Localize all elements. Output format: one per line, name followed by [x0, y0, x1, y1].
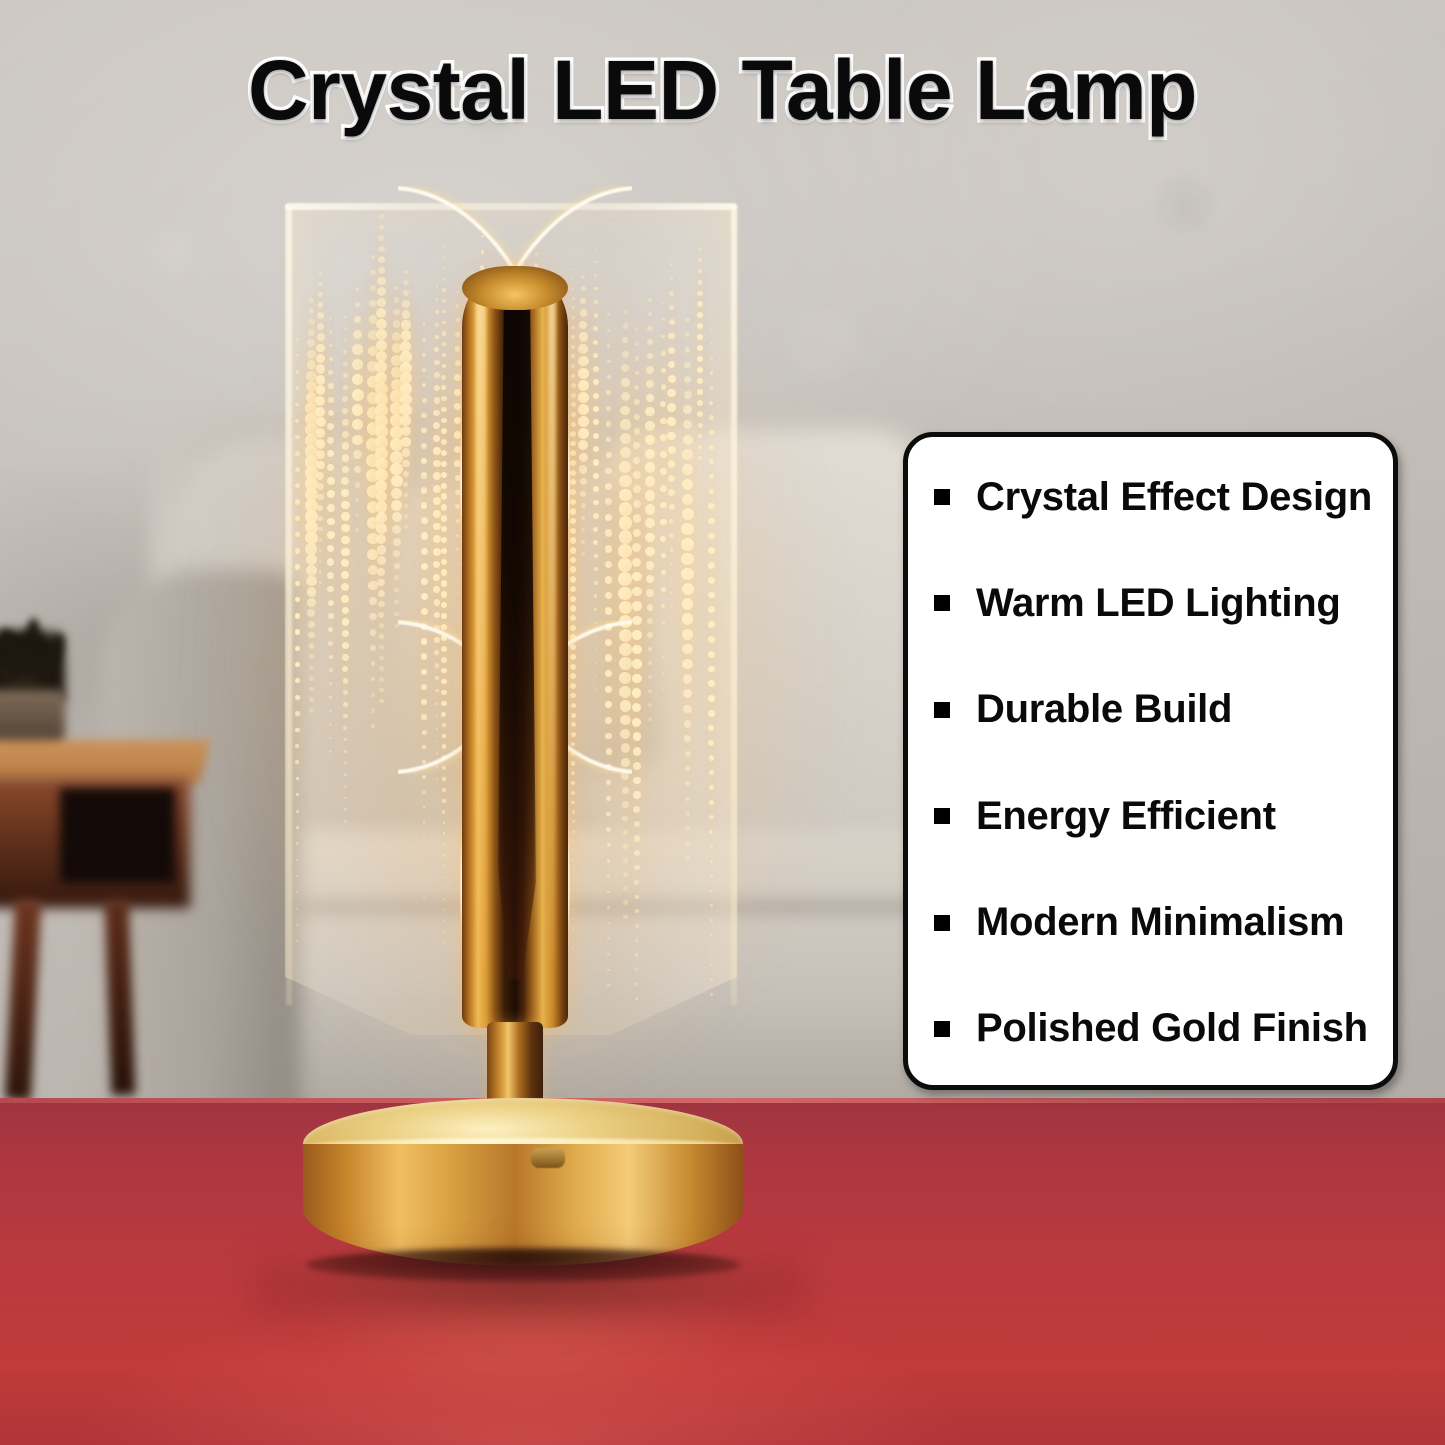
list-item: Crystal Effect Design — [926, 461, 1375, 533]
crystal-bead — [329, 682, 332, 685]
crystal-bead — [355, 302, 361, 308]
crystal-bead — [355, 528, 359, 532]
crystal-bead — [648, 689, 652, 693]
crystal-bead — [681, 568, 693, 580]
crystal-bead — [344, 738, 348, 742]
crystal-bead — [699, 501, 701, 503]
crystal-bead — [308, 329, 315, 336]
crystal-bead — [352, 344, 362, 354]
crystal-bead — [352, 389, 364, 401]
crystal-bead — [329, 710, 332, 713]
crystal-bead — [662, 689, 664, 691]
crystal-bead — [329, 723, 332, 726]
crystal-bead — [697, 312, 703, 318]
crystal-bead — [670, 577, 673, 580]
crystal-bead — [632, 630, 642, 640]
crystal-bead — [343, 678, 349, 684]
list-item: Modern Minimalism — [926, 887, 1375, 959]
crystal-bead — [708, 592, 715, 599]
crystal-bead — [371, 677, 376, 682]
crystal-bead — [684, 720, 692, 728]
crystal-bead — [632, 616, 642, 626]
crystal-bead — [697, 389, 703, 395]
crystal-bead — [379, 645, 384, 650]
crystal-bead — [316, 385, 326, 395]
crystal-bead — [633, 457, 640, 464]
crystal-bead — [309, 654, 314, 659]
crystal-bead — [647, 632, 652, 637]
crystal-bead — [295, 581, 301, 587]
crystal-bead — [307, 587, 317, 597]
crystal-bead — [352, 374, 364, 386]
crystal-bead — [683, 705, 691, 713]
list-item: Durable Build — [926, 674, 1375, 746]
crystal-bead — [646, 366, 654, 374]
crystal-bead — [670, 548, 674, 552]
crystal-bead — [708, 725, 714, 731]
crystal-bead — [329, 750, 332, 753]
crystal-bead — [709, 830, 713, 834]
crystal-bead — [634, 880, 639, 885]
crystal-bead — [668, 375, 676, 383]
crystal-bead — [376, 501, 387, 512]
crystal-bead — [317, 483, 325, 491]
crystal-bead — [344, 773, 347, 776]
crystal-bead — [699, 468, 702, 471]
crystal-bead — [710, 875, 713, 878]
crystal-bead — [376, 512, 387, 523]
crystal-bead — [376, 308, 386, 318]
crystal-bead — [306, 576, 316, 586]
crystal-bead — [295, 483, 300, 488]
crystal-bead — [377, 287, 386, 296]
crystal-bead — [327, 518, 335, 526]
crystal-bead — [708, 680, 715, 687]
crystal-bead — [708, 533, 715, 540]
crystal-bead — [309, 665, 314, 670]
crystal-bead — [309, 708, 314, 713]
feature-list-panel: Crystal Effect Design Warm LED Lighting … — [903, 432, 1398, 1090]
crystal-bead — [710, 860, 714, 864]
crystal-bead — [295, 744, 299, 748]
crystal-bead — [708, 651, 715, 658]
crystal-bead — [662, 318, 665, 321]
crystal-bead — [685, 811, 689, 815]
crystal-bead — [633, 806, 640, 813]
crystal-bead — [355, 498, 359, 502]
crystal-bead — [710, 890, 713, 893]
crystal-bead — [296, 891, 298, 893]
crystal-bead — [316, 344, 325, 353]
crystal-bead — [648, 717, 652, 721]
crystal-bead — [698, 456, 701, 459]
crystal-bead — [342, 408, 348, 414]
crystal-bead — [710, 845, 714, 849]
feature-label: Polished Gold Finish — [976, 1006, 1368, 1051]
crystal-bead — [648, 298, 652, 302]
crystal-bead — [344, 808, 347, 811]
crystal-bead — [635, 982, 638, 985]
crystal-bead — [342, 431, 349, 438]
crystal-bead — [685, 347, 691, 353]
crystal-bead — [329, 655, 333, 659]
crystal-bead — [660, 401, 666, 407]
crystal-bead — [341, 477, 349, 485]
crystal-bead — [377, 579, 385, 587]
crystal-bead — [632, 558, 641, 567]
crystal-bead — [296, 338, 299, 341]
crystal-bead — [377, 298, 387, 308]
crystal-bead — [342, 442, 349, 449]
crystal-bead — [660, 502, 667, 509]
crystal-bead — [328, 641, 333, 646]
crystal-bead — [661, 384, 667, 390]
crystal-bead — [661, 604, 665, 608]
crystal-bead — [668, 475, 675, 482]
crystal-bead — [296, 777, 300, 781]
crystal-bead — [607, 953, 610, 956]
crystal-bead — [661, 587, 666, 592]
crystal-bead — [295, 613, 301, 619]
crystal-bead — [376, 319, 387, 330]
crystal-bead — [327, 504, 335, 512]
crystal-bead — [316, 461, 325, 470]
crystal-bead — [682, 629, 693, 640]
crystal-bead — [685, 332, 690, 337]
crystal-bead — [296, 793, 299, 796]
crystal-bead — [379, 634, 384, 639]
crystal-bead — [681, 553, 693, 565]
crystal-bead — [355, 287, 359, 291]
crystal-bead — [352, 404, 364, 416]
crystal-bead — [646, 589, 654, 597]
crystal-bead — [329, 737, 332, 740]
crystal-bead — [648, 675, 652, 679]
crystal-bead — [315, 407, 325, 417]
crystal-bead — [344, 797, 347, 800]
crystal-bead — [318, 302, 324, 308]
crystal-bead — [632, 572, 641, 581]
crystal-bead — [661, 570, 666, 575]
crystal-bead — [307, 350, 316, 359]
crystal-bead — [354, 466, 361, 473]
crystal-bead — [344, 820, 347, 823]
crystal-bead — [682, 449, 693, 460]
crystal-bead — [344, 761, 347, 764]
crystal-bead — [296, 940, 298, 942]
crystal-bead — [685, 318, 689, 322]
crystal-bead — [343, 714, 348, 719]
crystal-bead — [341, 536, 349, 544]
crystal-bead — [376, 329, 387, 340]
crystal-bead — [376, 534, 386, 544]
crystal-bead — [317, 333, 325, 341]
crystal-bead — [343, 690, 348, 695]
crystal-bead — [296, 306, 298, 308]
crystal-bead — [309, 697, 314, 702]
crystal-bead — [328, 627, 333, 632]
crystal-bead — [379, 623, 384, 628]
crystal-bead — [327, 531, 335, 539]
crystal-bead — [328, 397, 334, 403]
crystal-bead — [378, 601, 385, 608]
crystal-bead — [305, 543, 317, 555]
crystal-bead — [708, 666, 715, 673]
crystal-bead — [685, 841, 689, 845]
crystal-bead — [341, 571, 349, 579]
crystal-bead — [633, 791, 641, 799]
crystal-bead — [375, 480, 387, 492]
crystal-bead — [669, 533, 674, 538]
crystal-bead — [697, 334, 704, 341]
crystal-bead — [708, 740, 714, 746]
list-item: Energy Efficient — [926, 780, 1375, 852]
crystal-bead — [295, 646, 300, 651]
crystal-bead — [645, 504, 655, 514]
crystal-bead — [296, 908, 298, 910]
crystal-bead — [697, 356, 704, 363]
crystal-bead — [635, 356, 639, 360]
crystal-bead — [635, 342, 639, 346]
square-bullet-icon — [934, 702, 950, 718]
crystal-bead — [378, 590, 385, 597]
crystal-bead — [341, 489, 349, 497]
crystal-bead — [710, 993, 712, 995]
crystal-bead — [661, 351, 666, 356]
crystal-bead — [681, 523, 693, 535]
feature-label: Warm LED Lighting — [976, 581, 1341, 626]
crystal-bead — [633, 777, 641, 785]
crystal-bead — [353, 330, 362, 339]
crystal-bead — [371, 708, 376, 713]
crystal-bead — [635, 997, 638, 1000]
crystal-bead — [329, 317, 332, 320]
crystal-bead — [635, 895, 640, 900]
crystal-bead — [317, 505, 323, 511]
crystal-bead — [682, 583, 694, 595]
crystal-bead — [328, 613, 334, 619]
crystal-bead — [327, 490, 335, 498]
crystal-bead — [667, 403, 676, 412]
crystal-bead — [633, 500, 641, 508]
crystal-bead — [329, 344, 333, 348]
product-marketing-image: Crystal LED Table Lamp Crystal Effect De… — [0, 0, 1445, 1445]
crystal-bead — [710, 328, 712, 330]
crystal-bead — [709, 770, 715, 776]
crystal-bead — [308, 621, 315, 628]
crystal-bead — [296, 842, 298, 844]
crystal-bead — [341, 595, 349, 603]
crystal-bead — [710, 357, 713, 360]
square-bullet-icon — [934, 1021, 950, 1037]
crystal-bead — [329, 668, 333, 672]
crystal-bead — [295, 760, 299, 764]
crystal-bead — [685, 856, 689, 860]
crystal-bead — [698, 269, 702, 273]
crystal-bead — [371, 661, 376, 666]
crystal-bead — [632, 674, 641, 683]
crystal-bead — [683, 674, 693, 684]
crystal-bead — [318, 292, 323, 297]
crystal-bead — [697, 378, 704, 385]
feature-label: Energy Efficient — [976, 794, 1276, 839]
crystal-bead — [635, 909, 639, 913]
crystal-bead — [295, 597, 301, 603]
crystal-bead — [669, 305, 674, 310]
crystal-bead — [683, 689, 692, 698]
feature-label: Durable Build — [976, 687, 1232, 732]
crystal-bead — [369, 613, 377, 621]
crystal-bead — [708, 621, 715, 628]
crystal-bead — [295, 711, 300, 716]
list-item: Polished Gold Finish — [926, 993, 1375, 1065]
crystal-bead — [316, 450, 325, 459]
crystal-bead — [319, 570, 323, 574]
crystal-bead — [632, 703, 641, 712]
crystal-bead — [645, 407, 654, 416]
crystal-bead — [709, 459, 714, 464]
crystal-bead — [685, 751, 691, 757]
crystal-bead — [647, 618, 653, 624]
crystal-bead — [319, 538, 323, 542]
crystal-bead — [296, 354, 299, 357]
crystal-bead — [645, 435, 655, 445]
crystal-bead — [352, 435, 362, 445]
crystal-bead — [662, 672, 664, 674]
crystal-bead — [379, 214, 384, 219]
crystal-bead — [669, 319, 675, 325]
column-highlight-right — [548, 282, 556, 962]
crystal-bead — [635, 328, 638, 331]
crystal-bead — [316, 375, 326, 385]
crystal-bead — [368, 581, 378, 591]
crystal-bead — [646, 394, 655, 403]
crystal-bead — [634, 835, 640, 841]
crystal-bead — [318, 516, 323, 521]
square-bullet-icon — [934, 595, 950, 611]
crystal-bead — [635, 968, 638, 971]
crystal-bead — [662, 302, 664, 304]
crystal-bead — [668, 460, 676, 468]
crystal-bead — [341, 583, 349, 591]
crystal-bead — [317, 494, 324, 501]
crystal-bead — [682, 659, 692, 669]
crystal-bead — [308, 319, 315, 326]
lamp-contact-shadow — [250, 1252, 810, 1322]
crystal-bead — [645, 518, 655, 528]
crystal-bead — [685, 781, 690, 786]
crystal-bead — [698, 423, 703, 428]
crystal-bead — [648, 647, 653, 652]
crystal-bead — [295, 516, 301, 522]
crystal-bead — [709, 800, 714, 805]
crystal-bead — [683, 405, 692, 414]
crystal-bead — [632, 543, 641, 552]
crystal-bead — [344, 785, 347, 788]
crystal-bead — [709, 815, 714, 820]
lamp-switch[interactable] — [531, 1148, 565, 1168]
crystal-bead — [329, 330, 332, 333]
crystal-bead — [316, 354, 325, 363]
crystal-bead — [342, 466, 350, 474]
crystal-bead — [344, 339, 348, 343]
crystal-bead — [634, 850, 640, 856]
crystal-bead — [342, 654, 349, 661]
crystal-bead — [660, 485, 667, 492]
crystal-bead — [317, 323, 324, 330]
crystal-bead — [329, 357, 334, 362]
crystal-bead — [710, 904, 713, 907]
crystal-bead — [697, 301, 703, 307]
crystal-bead — [342, 396, 348, 402]
crystal-bead — [295, 435, 300, 440]
crystal-bead — [699, 512, 701, 514]
crystal-bead — [634, 414, 640, 420]
crystal-bead — [660, 451, 667, 458]
crystal-bead — [319, 581, 323, 585]
crystal-bead — [684, 391, 692, 399]
crystal-bead — [662, 621, 665, 624]
crystal-bead — [708, 577, 715, 584]
column-highlight-left — [476, 280, 486, 970]
crystal-bead — [710, 964, 712, 966]
crystal-bead — [670, 277, 674, 281]
crystal-bead — [341, 501, 349, 509]
crystal-bead — [355, 482, 361, 488]
crystal-bead — [684, 735, 691, 742]
crystal-bead — [635, 924, 639, 928]
crystal-bead — [343, 362, 348, 367]
crystal-bead — [307, 609, 315, 617]
crystal-bead — [376, 523, 387, 534]
crystal-bead — [317, 312, 324, 319]
crystal-bead — [295, 678, 300, 683]
crystal-bead — [352, 419, 363, 430]
crystal-bead — [296, 924, 298, 926]
crystal-bead — [295, 467, 300, 472]
crystal-bead — [708, 606, 715, 613]
crystal-bead — [319, 271, 323, 275]
crystal-bead — [306, 554, 318, 566]
crystal-bead — [296, 810, 299, 813]
crystal-bead — [669, 291, 674, 296]
crystal-bead — [377, 545, 387, 555]
crystal-bead — [343, 373, 348, 378]
crystal-bead — [343, 350, 347, 354]
crystal-bead — [698, 258, 702, 262]
crystal-bead — [379, 688, 384, 693]
crystal-bead — [296, 370, 299, 373]
crystal-bead — [633, 442, 640, 449]
crystal-bead — [682, 464, 693, 475]
crystal-bead — [295, 662, 300, 667]
crystal-bead — [699, 479, 701, 481]
crystal-bead — [295, 564, 301, 570]
crystal-bead — [634, 385, 639, 390]
crystal-bead — [682, 479, 694, 491]
crystal-bead — [697, 400, 703, 406]
crystal-bead — [708, 562, 715, 569]
crystal-bead — [327, 437, 334, 444]
crystal-bead — [697, 411, 703, 417]
crystal-bead — [699, 248, 702, 251]
crystal-bead — [681, 538, 693, 550]
crystal-bead — [342, 419, 349, 426]
crystal-bead — [632, 659, 642, 669]
crystal-bead — [309, 643, 315, 649]
crystal-bead — [660, 434, 667, 441]
crystal-bead — [316, 417, 326, 427]
